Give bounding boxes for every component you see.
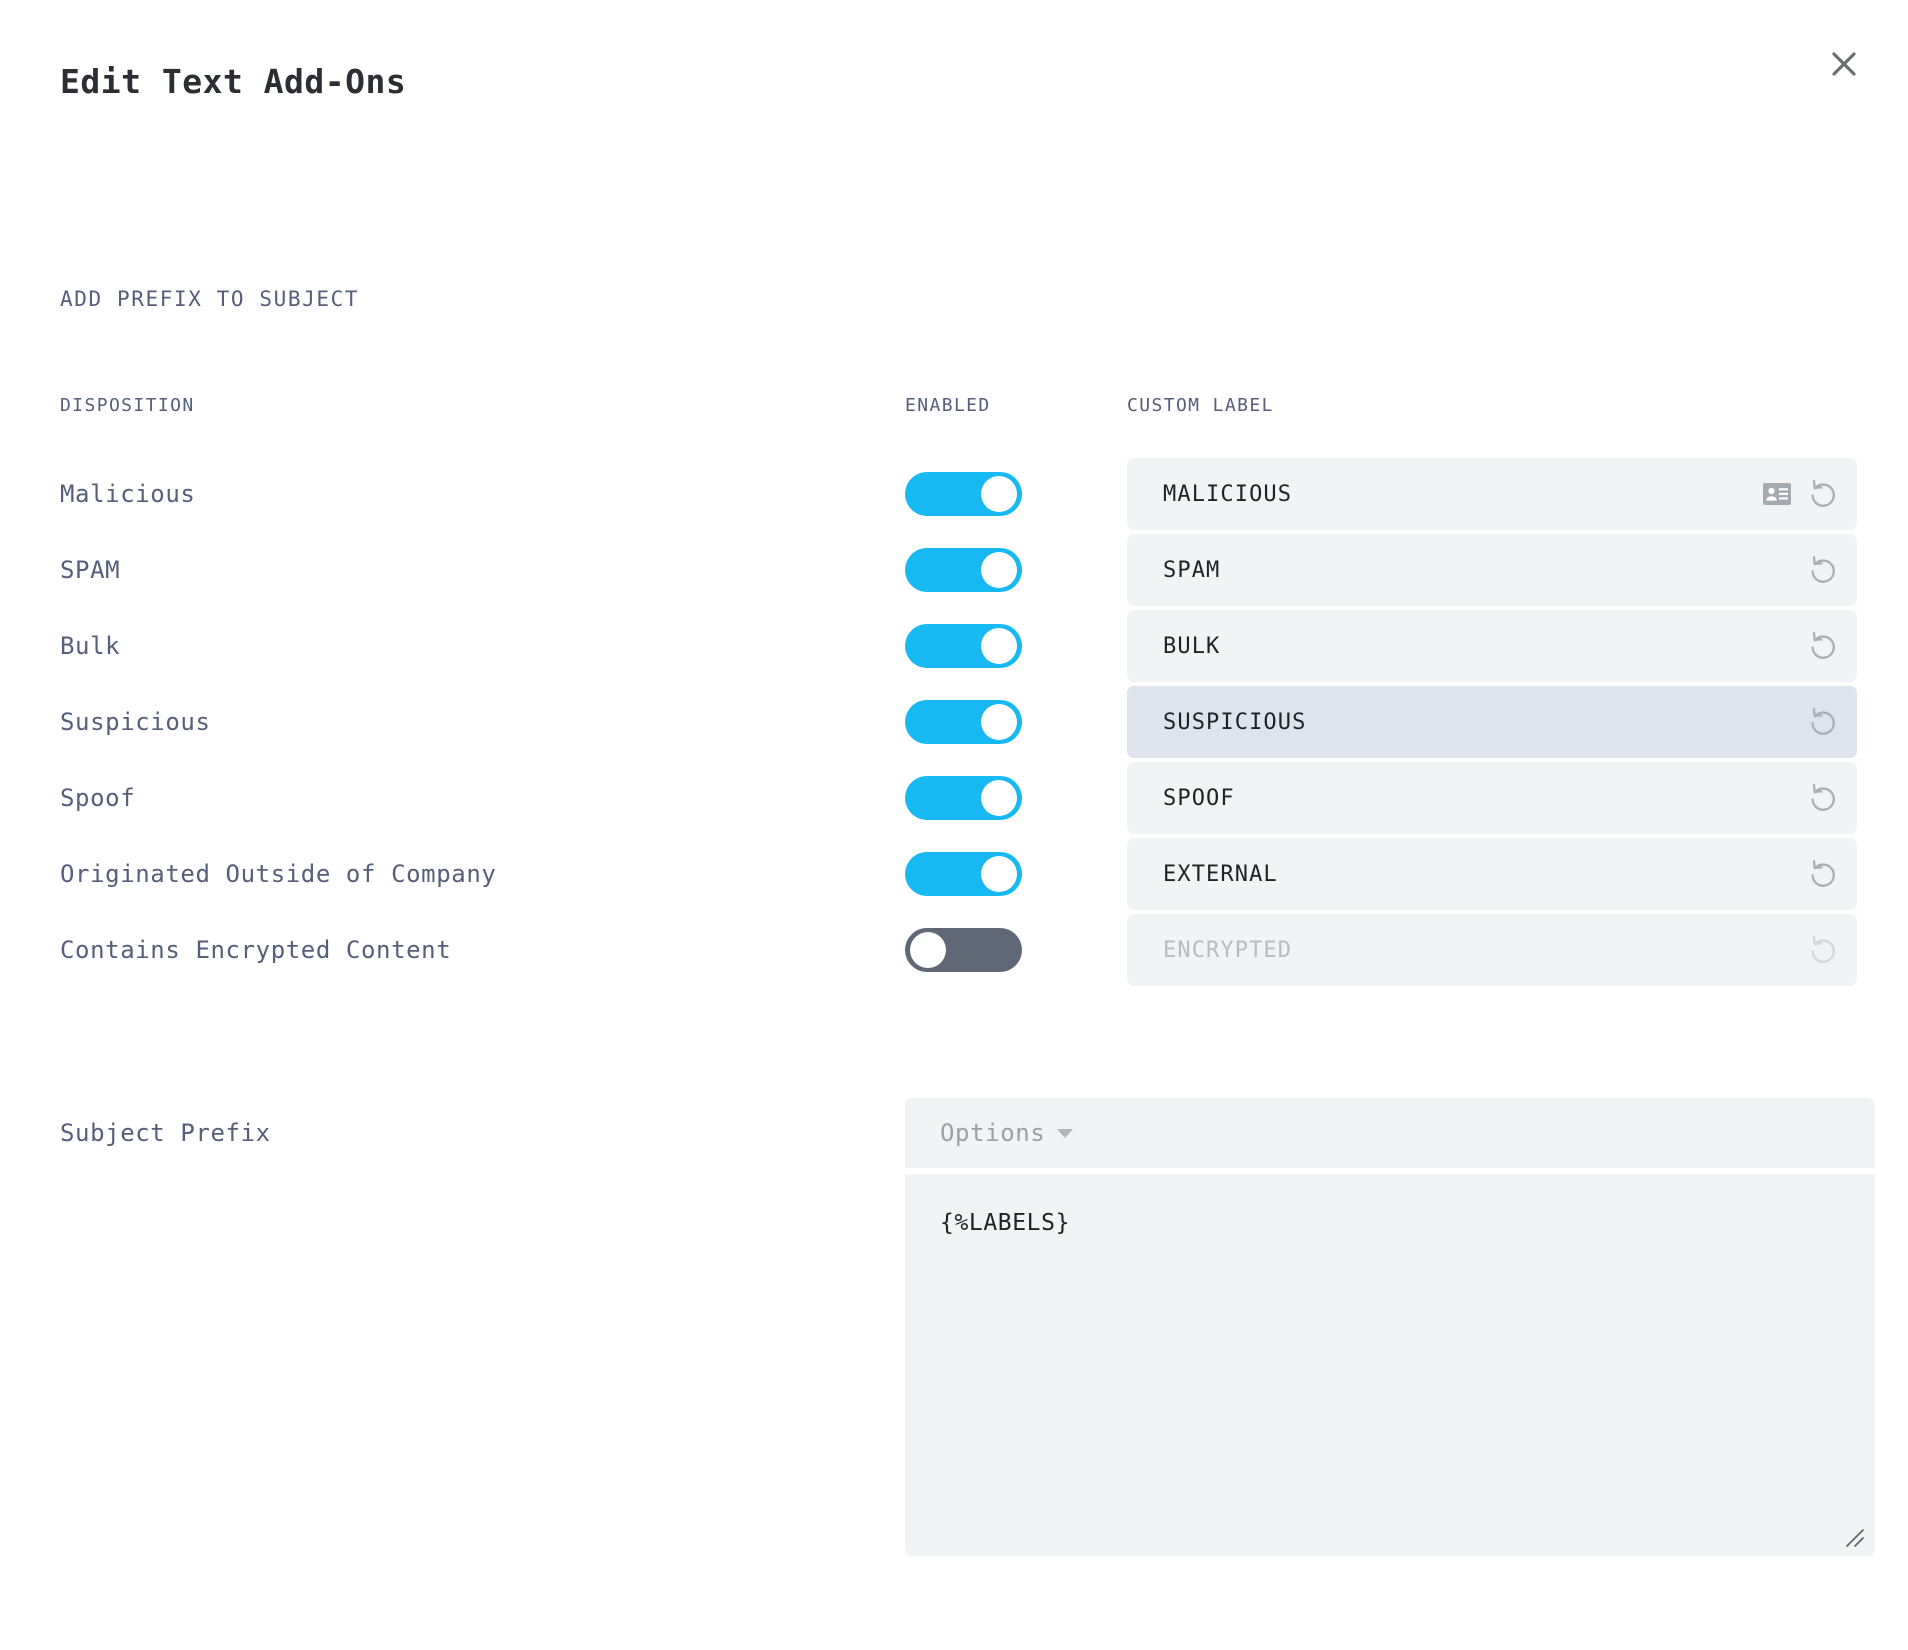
disposition-label: Contains Encrypted Content bbox=[60, 936, 451, 964]
enabled-toggle[interactable] bbox=[905, 776, 1022, 820]
section-label: ADD PREFIX TO SUBJECT bbox=[60, 287, 359, 311]
toggle-knob bbox=[981, 704, 1017, 740]
custom-label-value: ENCRYPTED bbox=[1163, 938, 1807, 963]
column-header-custom-label: CUSTOM LABEL bbox=[1127, 395, 1274, 416]
id-card-icon[interactable] bbox=[1763, 483, 1791, 505]
custom-label-value: BULK bbox=[1163, 634, 1807, 659]
field-icon-group bbox=[1807, 934, 1839, 966]
resize-grip-icon[interactable] bbox=[1844, 1527, 1866, 1549]
options-dropdown-label: Options bbox=[940, 1119, 1045, 1147]
custom-label-input[interactable]: SPOOF bbox=[1127, 762, 1857, 834]
reset-icon[interactable] bbox=[1807, 934, 1839, 966]
edit-text-addons-dialog: Edit Text Add-Ons ADD PREFIX TO SUBJECT … bbox=[0, 0, 1908, 1650]
disposition-label: Bulk bbox=[60, 632, 120, 660]
enabled-toggle[interactable] bbox=[905, 700, 1022, 744]
reset-icon[interactable] bbox=[1807, 554, 1839, 586]
field-icon-group bbox=[1807, 630, 1839, 662]
field-icon-group bbox=[1807, 706, 1839, 738]
toggle-knob bbox=[981, 476, 1017, 512]
subject-prefix-textarea[interactable]: {%LABELS} bbox=[905, 1174, 1875, 1556]
close-button[interactable] bbox=[1818, 38, 1870, 90]
reset-icon[interactable] bbox=[1807, 706, 1839, 738]
custom-label-input[interactable]: ENCRYPTED bbox=[1127, 914, 1857, 986]
toggle-knob bbox=[910, 932, 946, 968]
column-header-enabled: ENABLED bbox=[905, 395, 991, 416]
reset-icon[interactable] bbox=[1807, 630, 1839, 662]
field-icon-group bbox=[1807, 782, 1839, 814]
custom-label-input[interactable]: BULK bbox=[1127, 610, 1857, 682]
custom-label-input[interactable]: MALICIOUS bbox=[1127, 458, 1857, 530]
chevron-down-icon bbox=[1057, 1129, 1073, 1138]
enabled-toggle[interactable] bbox=[905, 852, 1022, 896]
toggle-knob bbox=[981, 552, 1017, 588]
custom-label-value: SUSPICIOUS bbox=[1163, 710, 1807, 735]
disposition-label: Spoof bbox=[60, 784, 135, 812]
reset-icon[interactable] bbox=[1807, 478, 1839, 510]
subject-prefix-label: Subject Prefix bbox=[60, 1119, 271, 1147]
field-icon-group bbox=[1807, 858, 1839, 890]
subject-prefix-value: {%LABELS} bbox=[940, 1210, 1875, 1236]
table-row: Contains Encrypted ContentENCRYPTED bbox=[0, 904, 1908, 996]
enabled-toggle[interactable] bbox=[905, 928, 1022, 972]
disposition-label: Originated Outside of Company bbox=[60, 860, 496, 888]
page-title: Edit Text Add-Ons bbox=[60, 62, 406, 101]
custom-label-input[interactable]: SUSPICIOUS bbox=[1127, 686, 1857, 758]
close-icon bbox=[1827, 47, 1861, 81]
disposition-label: Malicious bbox=[60, 480, 195, 508]
custom-label-value: MALICIOUS bbox=[1163, 482, 1763, 507]
options-dropdown[interactable]: Options bbox=[905, 1098, 1875, 1168]
toggle-knob bbox=[981, 628, 1017, 664]
custom-label-value: EXTERNAL bbox=[1163, 862, 1807, 887]
custom-label-input[interactable]: EXTERNAL bbox=[1127, 838, 1857, 910]
toggle-knob bbox=[981, 856, 1017, 892]
custom-label-value: SPAM bbox=[1163, 558, 1807, 583]
reset-icon[interactable] bbox=[1807, 782, 1839, 814]
enabled-toggle[interactable] bbox=[905, 472, 1022, 516]
disposition-label: SPAM bbox=[60, 556, 120, 584]
enabled-toggle[interactable] bbox=[905, 624, 1022, 668]
enabled-toggle[interactable] bbox=[905, 548, 1022, 592]
column-header-disposition: DISPOSITION bbox=[60, 395, 195, 416]
custom-label-input[interactable]: SPAM bbox=[1127, 534, 1857, 606]
reset-icon[interactable] bbox=[1807, 858, 1839, 890]
custom-label-value: SPOOF bbox=[1163, 786, 1807, 811]
field-icon-group bbox=[1763, 478, 1839, 510]
toggle-knob bbox=[981, 780, 1017, 816]
field-icon-group bbox=[1807, 554, 1839, 586]
disposition-label: Suspicious bbox=[60, 708, 211, 736]
